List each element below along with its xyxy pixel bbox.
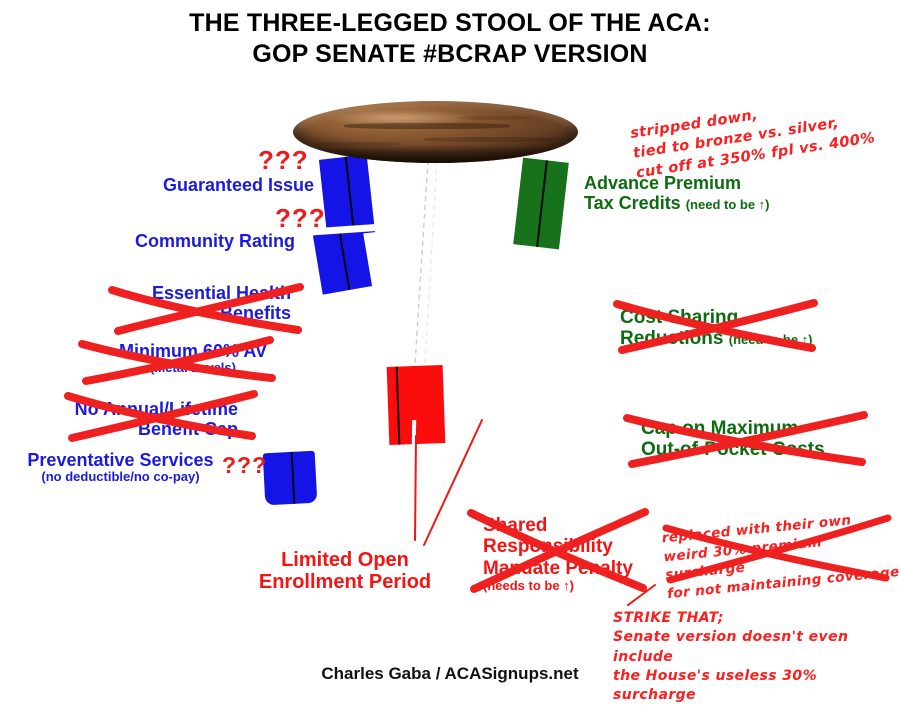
srmp-note: (needs to be ↑)	[483, 579, 633, 594]
csr-line-2-wrap: Reductions (need to be ↑)	[620, 328, 813, 349]
stn-line-2: Senate version doesn't even include	[613, 628, 900, 667]
blue-leg-detached-stub	[263, 451, 318, 506]
label-shared-responsibility-mandate-penalty: Shared Responsibility Mandate Penalty (n…	[483, 515, 633, 593]
label-no-annual-lifetime-benefit-cap: No Annual/Lifetime Benefit Cap	[52, 399, 238, 439]
csr-line-2: Reductions	[620, 328, 723, 349]
label-advance-premium-tax-credits: Advance Premium Tax Credits (need to be …	[584, 173, 770, 213]
title-line-1: THE THREE-LEGGED STOOL OF THE ACA:	[0, 8, 900, 39]
stn-line-1: STRIKE THAT;	[613, 609, 900, 628]
infographic-canvas: THE THREE-LEGGED STOOL OF THE ACA: GOP S…	[0, 0, 900, 700]
prev-line-2: (no deductible/no co-pay)	[13, 470, 228, 485]
loep-line-1: Limited Open	[255, 549, 435, 571]
label-cap-on-maximum-out-of-pocket-costs: Cap on Maximum Out-of-Pocket Costs	[641, 418, 825, 461]
ehb-line-2: Benefits	[126, 303, 291, 323]
label-community-rating: Community Rating	[135, 231, 295, 251]
moop-line-1: Cap on Maximum	[641, 418, 825, 439]
credit-line: Charles Gaba / ACASignups.net	[0, 664, 900, 684]
strike-that-note: STRIKE THAT; Senate version doesn't even…	[613, 609, 900, 706]
aptc-line-2: Tax Credits	[584, 193, 681, 213]
av-line-2: (Metal Levels)	[98, 361, 288, 376]
tax-credit-marker-note: stripped down, tied to bronze vs. silver…	[629, 88, 877, 183]
srmp-line-1: Shared	[483, 515, 633, 536]
ehb-line-1: Essential Health	[126, 283, 291, 303]
label-limited-open-enrollment-period: Limited Open Enrollment Period	[255, 549, 435, 594]
label-preventative-services: Preventative Services (no deductible/no …	[13, 450, 228, 485]
preventative-services-question-marks: ???	[222, 452, 267, 479]
guaranteed-issue-question-marks: ???	[258, 145, 309, 176]
av-line-1: Minimum 60% AV	[98, 341, 288, 361]
aptc-note: (need to be ↑)	[686, 197, 770, 212]
csr-line-1: Cost Sharing	[620, 307, 813, 328]
loep-line-2: Enrollment Period	[255, 571, 435, 593]
aptc-line-2-wrap: Tax Credits (need to be ↑)	[584, 193, 770, 213]
green-leg-shortened	[513, 158, 569, 250]
page-title: THE THREE-LEGGED STOOL OF THE ACA: GOP S…	[0, 8, 900, 69]
label-minimum-av: Minimum 60% AV (Metal Levels)	[98, 341, 288, 376]
community-rating-question-marks: ???	[275, 203, 326, 234]
srmp-line-3: Mandate Penalty	[483, 558, 633, 579]
csr-note: (need to be ↑)	[729, 332, 813, 347]
stool-seat	[293, 101, 578, 163]
label-essential-health-benefits: Essential Health Benefits	[126, 283, 291, 323]
label-guaranteed-issue: Guaranteed Issue	[163, 175, 314, 195]
prev-line-1: Preventative Services	[13, 450, 228, 470]
cap-line-2: Benefit Cap	[52, 419, 238, 439]
red-leg-stub	[387, 365, 446, 445]
mandate-surcharge-marker-note: replaced with their own weird 30% premiu…	[661, 507, 900, 604]
title-line-2: GOP SENATE #BCRAP VERSION	[0, 39, 900, 70]
moop-line-2: Out-of-Pocket Costs	[641, 439, 825, 460]
cap-line-1: No Annual/Lifetime	[52, 399, 238, 419]
pointer-limited-open-enrollment	[415, 436, 416, 540]
label-cost-sharing-reductions: Cost Sharing Reductions (need to be ↑)	[620, 307, 813, 350]
srmp-line-2: Responsibility	[483, 536, 633, 557]
